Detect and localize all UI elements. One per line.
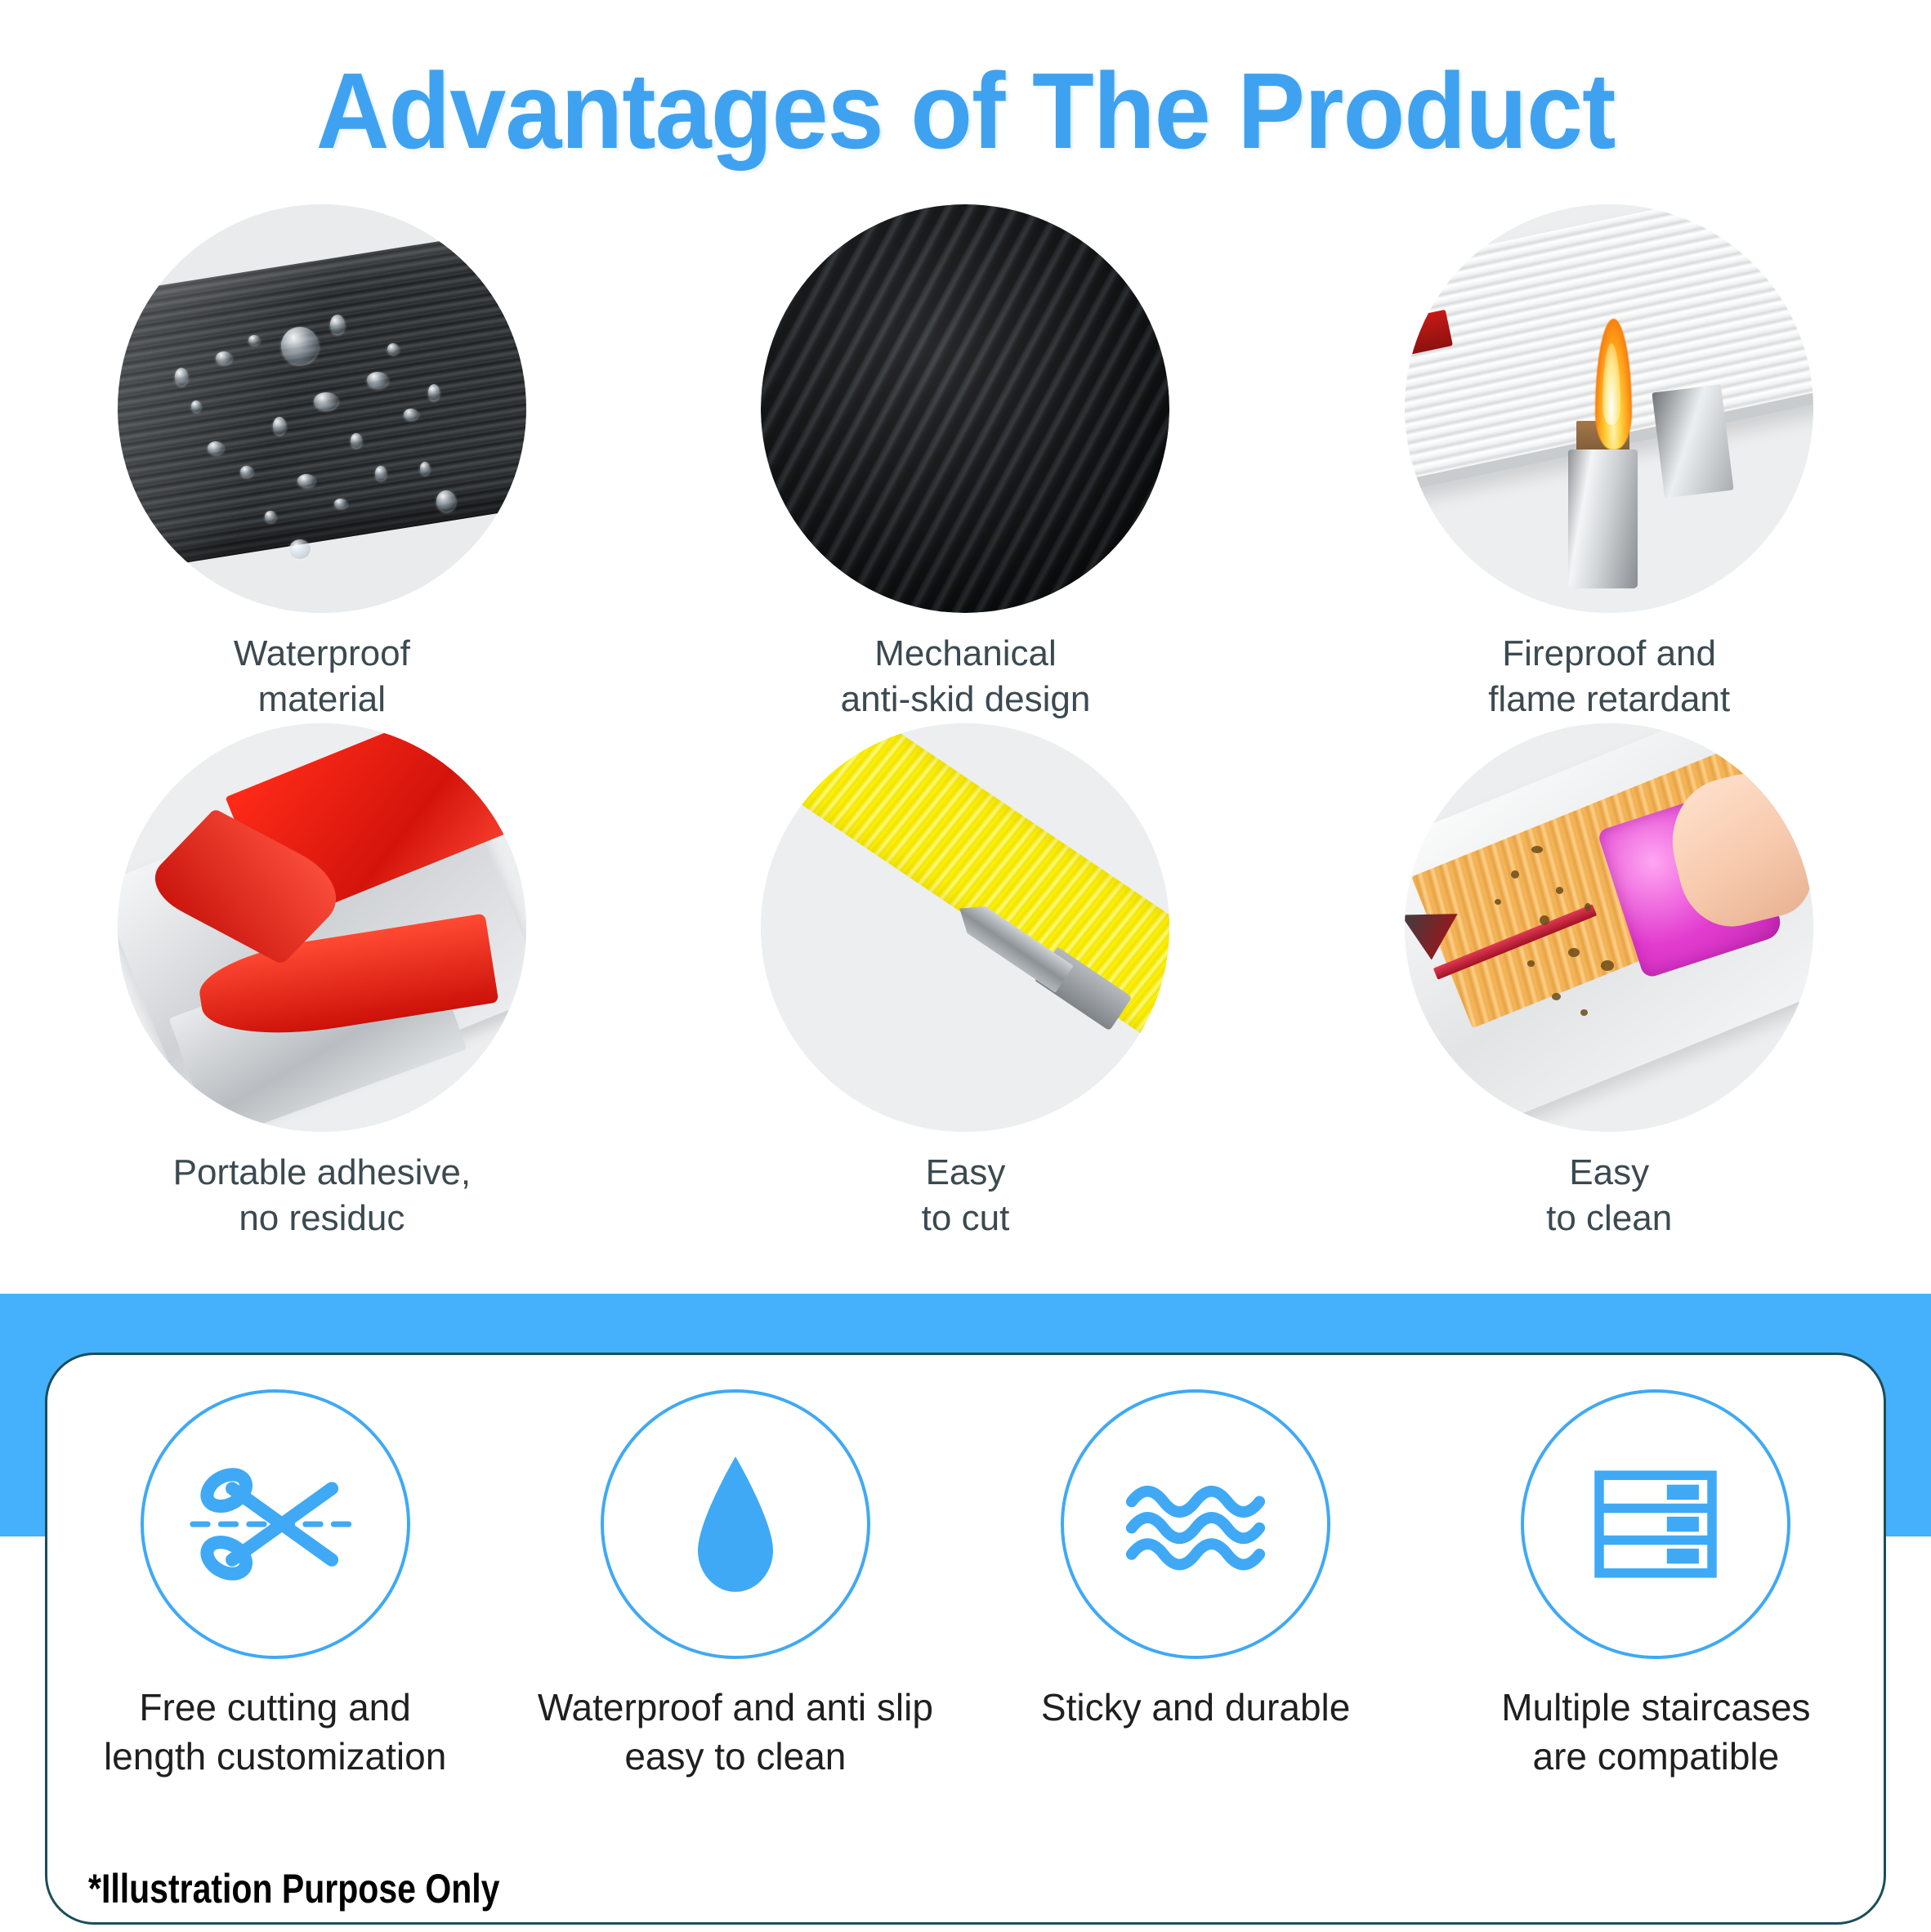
- feature-card-antiskid: Mechanical anti-skid design: [644, 204, 1288, 723]
- scissors-icon: [141, 1389, 410, 1659]
- benefits-icon-row: Free cutting and length customization Wa…: [45, 1389, 1886, 1782]
- feature-caption: Waterproof material: [234, 631, 410, 723]
- feature-caption: Fireproof and flame retardant: [1488, 631, 1730, 723]
- stacked-steps-icon: [1521, 1389, 1790, 1659]
- hand-cloth-cleaning-photo: [1405, 723, 1813, 1132]
- page-title-wrap: Advantages of The Product: [0, 57, 1931, 165]
- benefit-label: Waterproof and anti slip easy to clean: [538, 1684, 933, 1782]
- feature-card-easy-to-clean: Easy to clean: [1287, 723, 1931, 1242]
- black-ribbed-anti-skid-photo: [761, 204, 1169, 613]
- benefit-item-sticky-durable: Sticky and durable: [966, 1389, 1426, 1733]
- benefit-label: Multiple staircases are compatible: [1501, 1684, 1810, 1782]
- red-adhesive-peel-photo: [118, 723, 526, 1132]
- feature-card-waterproof: Waterproof material: [0, 204, 644, 723]
- benefit-item-free-cutting: Free cutting and length customization: [45, 1389, 505, 1782]
- waves-icon: [1061, 1389, 1330, 1659]
- water-drop-icon: [601, 1389, 870, 1659]
- feature-card-fireproof: Fireproof and flame retardant: [1287, 204, 1931, 723]
- flame-lighter-nosing-photo: [1405, 204, 1813, 613]
- feature-card-adhesive: Portable adhesive, no residuc: [0, 723, 644, 1242]
- feature-photo-grid: Waterproof material Mechanical anti-skid…: [0, 204, 1931, 1241]
- page-title: Advantages of The Product: [316, 57, 1616, 165]
- illustration-disclaimer: *Illustration Purpose Only: [88, 1865, 499, 1912]
- benefit-label: Free cutting and length customization: [104, 1684, 446, 1782]
- waterproof-ribbed-surface-photo: [118, 204, 526, 613]
- feature-caption: Portable adhesive, no residuc: [173, 1150, 471, 1242]
- benefit-label: Sticky and durable: [1041, 1684, 1350, 1733]
- benefit-item-multiple-staircases: Multiple staircases are compatible: [1426, 1389, 1886, 1782]
- benefit-item-waterproof: Waterproof and anti slip easy to clean: [505, 1389, 965, 1782]
- feature-caption: Easy to cut: [922, 1150, 1010, 1242]
- feature-card-easy-to-cut: Easy to cut: [644, 723, 1288, 1242]
- yellow-strip-knife-cut-photo: [761, 723, 1169, 1132]
- feature-caption: Mechanical anti-skid design: [841, 631, 1091, 723]
- feature-caption: Easy to clean: [1546, 1150, 1672, 1242]
